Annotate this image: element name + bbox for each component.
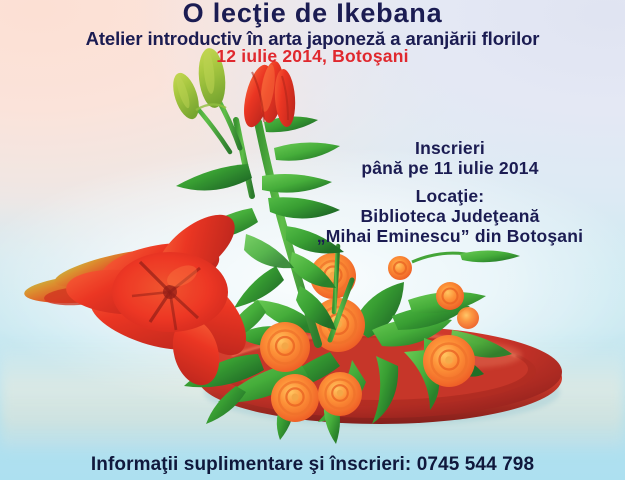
location-block: Locaţie: Biblioteca Judeţeană „Mihai Emi… [285,186,615,246]
location-line-1: Biblioteca Judeţeană [285,206,615,226]
location-line-2: „Mihai Eminescu” din Botoşani [285,226,615,246]
location-heading: Locaţie: [285,186,615,206]
contact-footer: Informaţii suplimentare şi înscrieri: 07… [0,454,625,476]
page-title: O lecţie de Ikebana [0,0,625,29]
registration-heading: Inscrieri [285,138,615,158]
ikebana-poster: O lecţie de Ikebana Atelier introductiv … [0,0,625,480]
event-date-line: 12 iulie 2014, Botoşani [0,46,625,67]
registration-block: Inscrieri până pe 11 iulie 2014 [285,138,615,178]
registration-deadline: până pe 11 iulie 2014 [285,158,615,178]
